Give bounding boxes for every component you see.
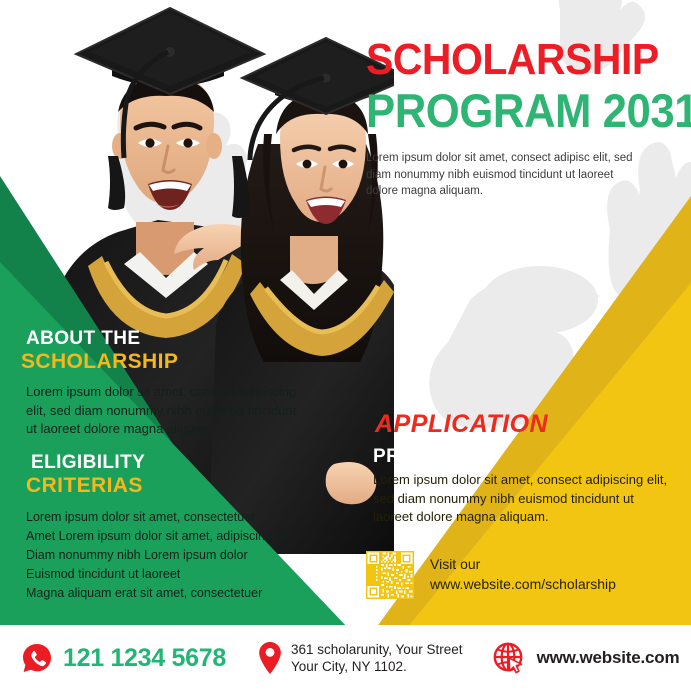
application-heading-bottom: PROCESS [373,446,675,468]
list-item: Euismod tincidunt ut laoreet [26,565,341,584]
qr-code-icon[interactable] [366,551,414,599]
eligibility-criteria-list: Lorem ipsum dolor sit amet, consectetuer… [26,508,341,603]
footer-phone-item[interactable]: 121 1234 5678 [22,643,226,673]
eligibility-heading-bottom: CRITERIAS [26,474,341,499]
visit-url[interactable]: www.website.com/scholarship [430,575,616,595]
footer-address-text: 361 scholarunity, Your Street Your City,… [291,641,463,676]
footer-address-line2: Your City, NY 1102. [291,659,407,674]
poster-title-line1: SCHOLARSHIP [366,38,656,81]
footer-website-url[interactable]: www.website.com [537,648,680,668]
about-heading-bottom: SCHOLARSHIP [21,350,326,375]
application-heading-top: APPLICATION [375,411,675,439]
about-heading-top: ABOUT THE [26,328,326,350]
eligibility-section: ELIGIBILITY CRITERIAS Lorem ipsum dolor … [31,452,341,616]
globe-cursor-icon [493,642,525,674]
visit-website-row[interactable]: Visit our www.website.com/scholarship [366,551,616,599]
poster-title-line2: PROGRAM 2031 [366,87,656,134]
footer-address-line1: 361 scholarunity, Your Street [291,642,463,657]
list-item: Lorem ipsum dolor sit amet, consectetuer [26,508,341,527]
scholarship-poster: SCHOLARSHIP PROGRAM 2031 Lorem ipsum dol… [0,0,691,691]
footer-bar: 121 1234 5678 361 scholarunity, Your Str… [0,625,691,691]
poster-subtitle: Lorem ipsum dolor sit amet, consect adip… [366,150,642,200]
application-section: APPLICATION PROCESS Lorem ipsum dolor si… [375,411,675,527]
about-section: ABOUT THE SCHOLARSHIP Lorem ipsum dolor … [26,328,326,439]
eligibility-heading-top: ELIGIBILITY [31,452,341,474]
footer-address-item: 361 scholarunity, Your Street Your City,… [258,641,463,676]
about-body: Lorem ipsum dolor sit amet, consect adip… [26,383,302,438]
visit-label: Visit our [430,555,616,575]
list-item: Magna aliquam erat sit amet, consectetue… [26,584,341,603]
application-body: Lorem ipsum dolor sit amet, consect adip… [373,471,673,526]
footer-phone-number[interactable]: 121 1234 5678 [63,644,226,673]
list-item: Amet Lorem ipsum dolor sit amet, adipisc… [26,527,341,546]
location-pin-icon [258,641,282,675]
visit-text: Visit our www.website.com/scholarship [430,555,616,595]
poster-header: SCHOLARSHIP PROGRAM 2031 Lorem ipsum dol… [366,38,678,200]
list-item: Diam nonummy nibh Lorem ipsum dolor [26,546,341,565]
phone-icon [22,643,52,673]
footer-website-item[interactable]: www.website.com [493,642,680,674]
